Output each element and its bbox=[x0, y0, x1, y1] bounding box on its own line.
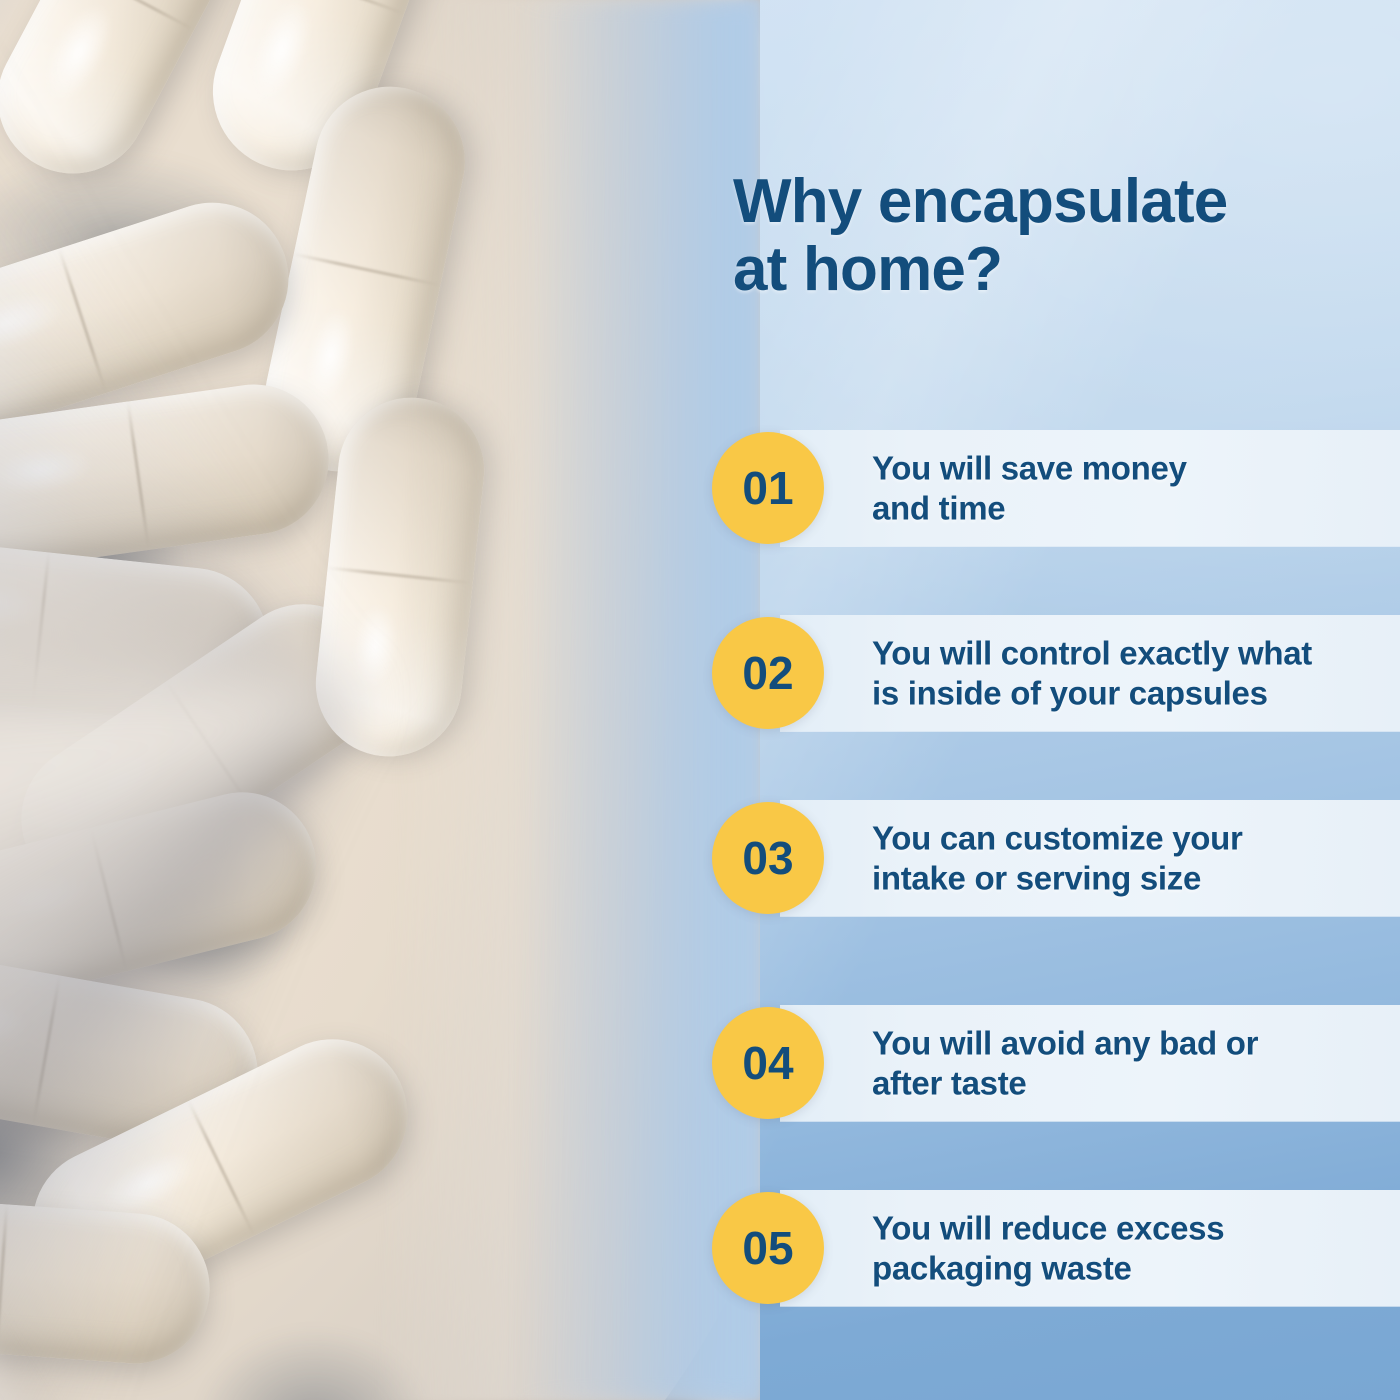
list-item-text-line-2: and time bbox=[872, 488, 1400, 528]
list-item-text-line-2: intake or serving size bbox=[872, 858, 1400, 898]
list-item: 02 You will control exactly what is insi… bbox=[712, 615, 1400, 731]
list-item-number-badge: 05 bbox=[712, 1192, 824, 1304]
list-item-text-line-2: after taste bbox=[872, 1063, 1400, 1103]
list-item: 04 You will avoid any bad or after taste bbox=[712, 1005, 1400, 1121]
list-item-text: You can customize your intake or serving… bbox=[872, 818, 1400, 897]
list-item-text-line-1: You will control exactly what bbox=[872, 633, 1400, 673]
content-column: Why encapsulate at home? 01 You will sav… bbox=[0, 0, 1400, 1400]
list-item-text-line-1: You will save money bbox=[872, 448, 1400, 488]
list-item: 05 You will reduce excess packaging wast… bbox=[712, 1190, 1400, 1306]
list-item-number-badge: 03 bbox=[712, 802, 824, 914]
list-item-text-line-2: is inside of your capsules bbox=[872, 673, 1400, 713]
list-item-text-line-1: You can customize your bbox=[872, 818, 1400, 858]
list-item-text-line-1: You will avoid any bad or bbox=[872, 1023, 1400, 1063]
list-item: 03 You can customize your intake or serv… bbox=[712, 800, 1400, 916]
list-item-text: You will avoid any bad or after taste bbox=[872, 1023, 1400, 1102]
list-item: 01 You will save money and time bbox=[712, 430, 1400, 546]
list-item-text: You will reduce excess packaging waste bbox=[872, 1208, 1400, 1287]
list-item-text-line-2: packaging waste bbox=[872, 1248, 1400, 1288]
list-item-number-badge: 02 bbox=[712, 617, 824, 729]
benefits-list: 01 You will save money and time 02 You w… bbox=[0, 0, 1400, 1400]
list-item-text: You will save money and time bbox=[872, 448, 1400, 527]
list-item-number-badge: 04 bbox=[712, 1007, 824, 1119]
list-item-text-line-1: You will reduce excess bbox=[872, 1208, 1400, 1248]
list-item-text: You will control exactly what is inside … bbox=[872, 633, 1400, 712]
list-item-number-badge: 01 bbox=[712, 432, 824, 544]
infographic-canvas: Why encapsulate at home? 01 You will sav… bbox=[0, 0, 1400, 1400]
